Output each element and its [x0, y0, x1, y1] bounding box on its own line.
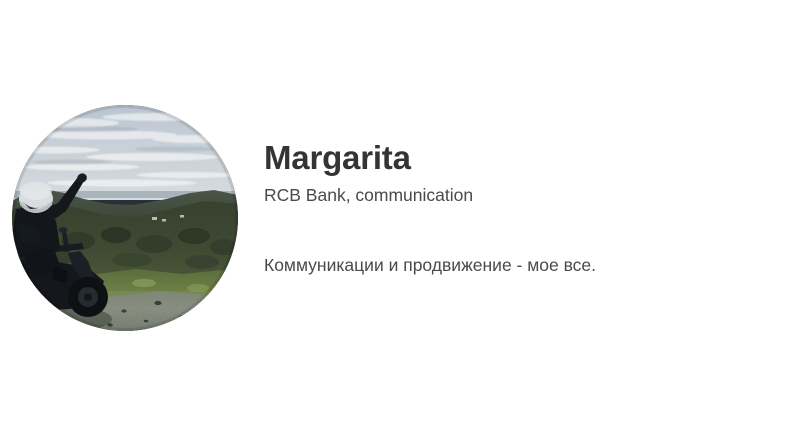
person-role: RCB Bank, communication	[264, 183, 784, 207]
person-tagline: Коммуникации и продвижение - мое все.	[264, 253, 596, 277]
avatar-photo	[12, 105, 238, 331]
identity-block: Margarita RCB Bank, communication	[264, 138, 784, 207]
avatar	[12, 105, 238, 331]
profile-card: Margarita RCB Bank, communication Коммун…	[0, 0, 800, 443]
page-title: Margarita	[264, 138, 784, 178]
